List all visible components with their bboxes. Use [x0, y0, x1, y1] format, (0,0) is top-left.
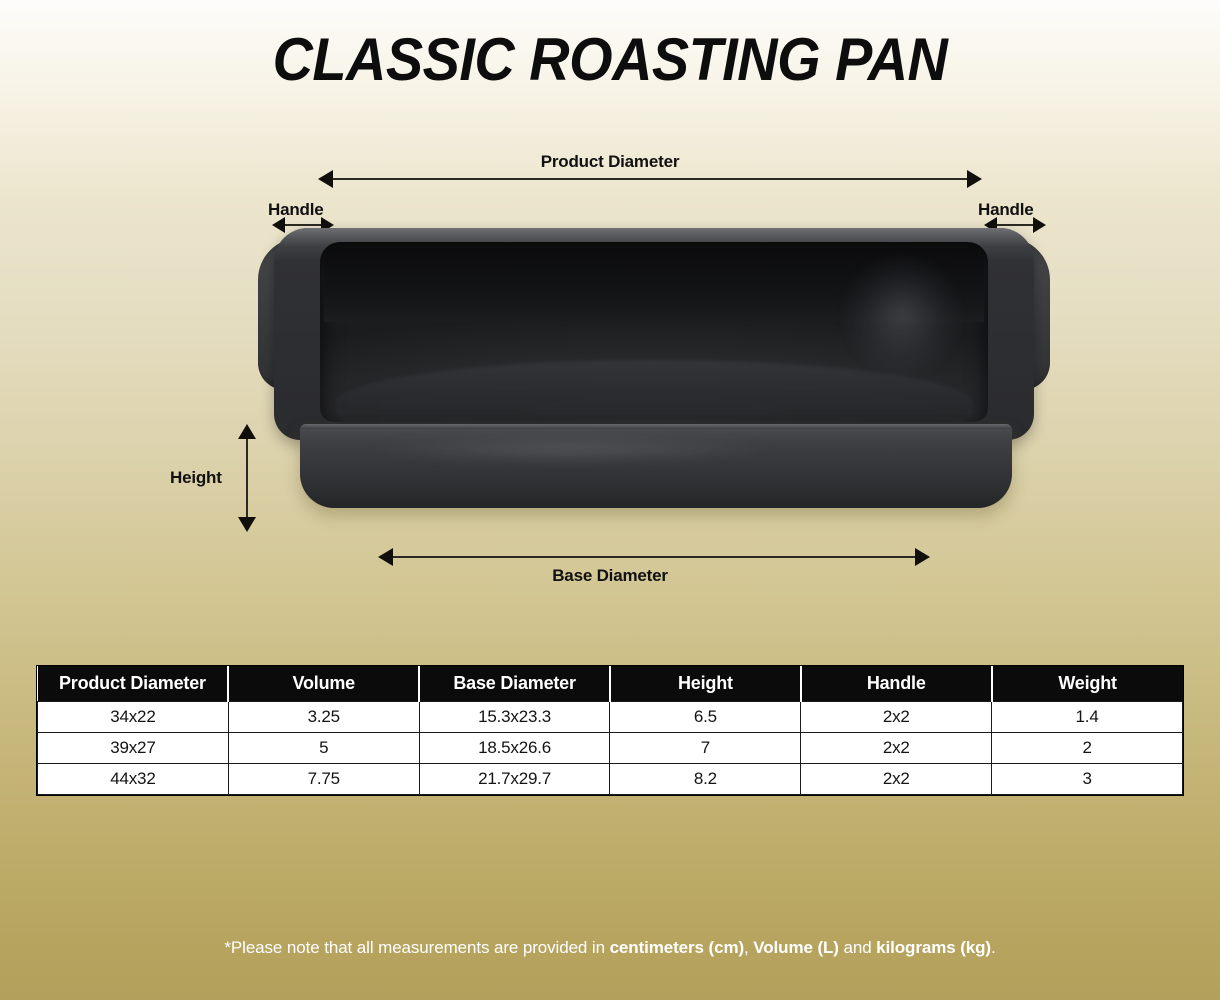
cell-product-diameter: 34x22 [38, 701, 229, 732]
footnote-bold-kilograms: kilograms (kg) [876, 938, 991, 957]
roasting-pan-image: SCANPAN SCANPAN [258, 228, 1050, 518]
callout-label-height: Height [170, 468, 222, 488]
table-header-volume: Volume [228, 666, 419, 701]
cell-product-diameter: 44x32 [38, 763, 229, 794]
arrow-shaft [333, 178, 967, 180]
arrow-head-left-icon [378, 548, 393, 566]
cell-weight: 3 [992, 763, 1183, 794]
arrow-shaft [997, 224, 1033, 226]
page-title: CLASSIC ROASTING PAN [43, 28, 1178, 92]
footnote-text-3: and [839, 938, 876, 957]
table-header-height: Height [610, 666, 801, 701]
cell-handle: 2x2 [801, 701, 992, 732]
footnote-text-1: *Please note that all measurements are p… [224, 938, 609, 957]
pan-base-edge [300, 424, 1012, 429]
callout-label-base-diameter: Base Diameter [0, 566, 1220, 586]
cell-volume: 7.75 [228, 763, 419, 794]
cell-volume: 3.25 [228, 701, 419, 732]
pan-base-highlight [360, 436, 780, 462]
arrow-head-down-icon [238, 517, 256, 532]
callout-label-product-diameter: Product Diameter [0, 152, 1220, 172]
arrow-shaft [285, 224, 321, 226]
footnote-text-4: . [991, 938, 996, 957]
cell-height: 7 [610, 732, 801, 763]
dimension-arrow-height [240, 424, 254, 532]
table-row: 44x32 7.75 21.7x29.7 8.2 2x2 3 [38, 763, 1183, 794]
cell-handle: 2x2 [801, 732, 992, 763]
pan-lower-body [300, 424, 1012, 508]
dimension-arrow-product-diameter [318, 172, 982, 186]
cell-volume: 5 [228, 732, 419, 763]
cell-height: 8.2 [610, 763, 801, 794]
table-header-weight: Weight [992, 666, 1183, 701]
dimension-arrow-base-diameter [378, 550, 930, 564]
arrow-shaft [393, 556, 915, 558]
arrow-head-left-icon [318, 170, 333, 188]
cell-handle: 2x2 [801, 763, 992, 794]
arrow-shaft [246, 439, 248, 517]
pan-interior-cavity [320, 242, 988, 422]
cell-weight: 1.4 [992, 701, 1183, 732]
cell-weight: 2 [992, 732, 1183, 763]
cell-height: 6.5 [610, 701, 801, 732]
arrow-head-right-icon [967, 170, 982, 188]
cell-base-diameter: 15.3x23.3 [419, 701, 610, 732]
specifications-table: Product Diameter Volume Base Diameter He… [37, 666, 1183, 795]
table-header-handle: Handle [801, 666, 992, 701]
cell-base-diameter: 18.5x26.6 [419, 732, 610, 763]
pan-upper-body [274, 228, 1034, 440]
cavity-highlight [842, 252, 962, 378]
arrow-head-up-icon [238, 424, 256, 439]
table-header-row: Product Diameter Volume Base Diameter He… [38, 666, 1183, 701]
footnote-text-2: , [744, 938, 753, 957]
footnote-bold-volume: Volume (L) [753, 938, 839, 957]
table-header-base-diameter: Base Diameter [419, 666, 610, 701]
table-row: 34x22 3.25 15.3x23.3 6.5 2x2 1.4 [38, 701, 1183, 732]
measurement-footnote: *Please note that all measurements are p… [0, 938, 1220, 958]
footnote-bold-centimeters: centimeters (cm) [610, 938, 744, 957]
cell-base-diameter: 21.7x29.7 [419, 763, 610, 794]
table-header-product-diameter: Product Diameter [38, 666, 229, 701]
cell-product-diameter: 39x27 [38, 732, 229, 763]
product-spec-sheet: CLASSIC ROASTING PAN Product Diameter Ha… [0, 0, 1220, 1000]
table-row: 39x27 5 18.5x26.6 7 2x2 2 [38, 732, 1183, 763]
arrow-head-right-icon [915, 548, 930, 566]
